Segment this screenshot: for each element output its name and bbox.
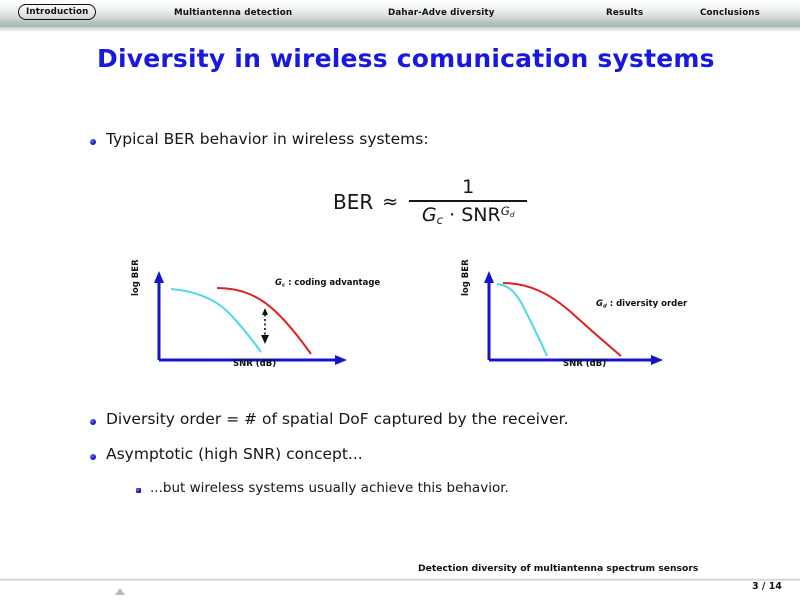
series-low-diversity-curve <box>497 284 547 356</box>
nav-item-conclusions[interactable]: Conclusions <box>700 8 760 18</box>
nav-item-introduction[interactable]: Introduction <box>18 4 96 20</box>
coding-advantage-arrow-up <box>262 308 268 315</box>
series-high-diversity-curve <box>503 283 621 356</box>
formula-dot: · <box>449 204 455 226</box>
formula-gd-sub: d <box>510 210 515 219</box>
bullet-text-2: Diversity order = # of spatial DoF captu… <box>106 411 569 428</box>
chart-right-annotation: Gd : diversity order <box>596 299 687 309</box>
formula-numerator: 1 <box>462 178 474 200</box>
annot-right-symbol: G <box>596 299 603 309</box>
series-coded-curve <box>217 288 311 354</box>
formula-denominator: Gc · SNRGd <box>422 202 515 227</box>
footer-title: Detection diversity of multiantenna spec… <box>418 563 698 574</box>
formula-lhs: BER <box>333 190 373 214</box>
bullet-dot-icon <box>90 139 96 145</box>
slide-title: Diversity in wireless comunication syste… <box>97 44 715 73</box>
formula-gd-main: G <box>501 204 510 218</box>
bullet-text-1: Typical BER behavior in wireless systems… <box>106 131 429 148</box>
navigation-bar: Introduction Multiantenna detection Daha… <box>0 0 800 27</box>
bullet-item-4-sub: ...but wireless systems usually achieve … <box>136 481 509 496</box>
chart-right-ylabel: log BER <box>461 259 471 296</box>
formula-gc-sub: c <box>437 213 443 227</box>
navbar-shadow <box>0 27 800 32</box>
annot-right-text: : diversity order <box>607 299 687 309</box>
bullet-square-icon <box>136 488 141 493</box>
y-axis-arrowhead <box>154 271 164 283</box>
annot-left-symbol: G <box>275 278 282 288</box>
chart-right-xlabel: SNR (dB) <box>563 359 606 369</box>
formula-fraction: 1 Gc · SNRGd <box>409 178 527 226</box>
bullet-item-1: Typical BER behavior in wireless systems… <box>90 131 429 148</box>
nav-item-results[interactable]: Results <box>606 8 643 18</box>
chart-left-ylabel: log BER <box>131 259 141 296</box>
nav-item-dahar-adve-diversity[interactable]: Dahar-Adve diversity <box>388 8 495 18</box>
bullet-text-3: Asymptotic (high SNR) concept... <box>106 446 363 463</box>
coding-advantage-arrow-down <box>261 335 269 344</box>
bullet-text-4: ...but wireless systems usually achieve … <box>150 481 509 496</box>
annot-left-text: : coding advantage <box>285 278 380 288</box>
footer-divider <box>0 578 800 581</box>
chart-left-xlabel: SNR (dB) <box>233 359 276 369</box>
formula-snr: SNR <box>461 204 500 226</box>
bullet-dot-icon <box>90 419 96 425</box>
x-axis-arrowhead <box>651 355 663 365</box>
bullet-item-2: Diversity order = # of spatial DoF captu… <box>90 411 569 428</box>
navigation-triangle-icon[interactable] <box>115 588 125 595</box>
formula-approx-sign: ≈ <box>382 191 398 213</box>
formula-exponent: Gd <box>501 204 515 218</box>
formula-gc-main: G <box>422 204 437 226</box>
bullet-dot-icon <box>90 454 96 460</box>
chart-coding-advantage: log BER SNR (dB) Gc : coding advantage <box>133 266 353 378</box>
chart-left-annotation: Gc : coding advantage <box>275 278 380 288</box>
chart-diversity-order: log BER SNR (dB) Gd : diversity order <box>463 266 683 378</box>
nav-item-multiantenna-detection[interactable]: Multiantenna detection <box>174 8 292 18</box>
formula-ber: BER ≈ 1 Gc · SNRGd <box>333 178 527 226</box>
series-uncoded-curve <box>171 289 261 352</box>
bullet-item-3: Asymptotic (high SNR) concept... <box>90 446 363 463</box>
x-axis-arrowhead <box>335 355 347 365</box>
y-axis-arrowhead <box>484 271 494 283</box>
footer-page-number: 3 / 14 <box>752 581 782 592</box>
